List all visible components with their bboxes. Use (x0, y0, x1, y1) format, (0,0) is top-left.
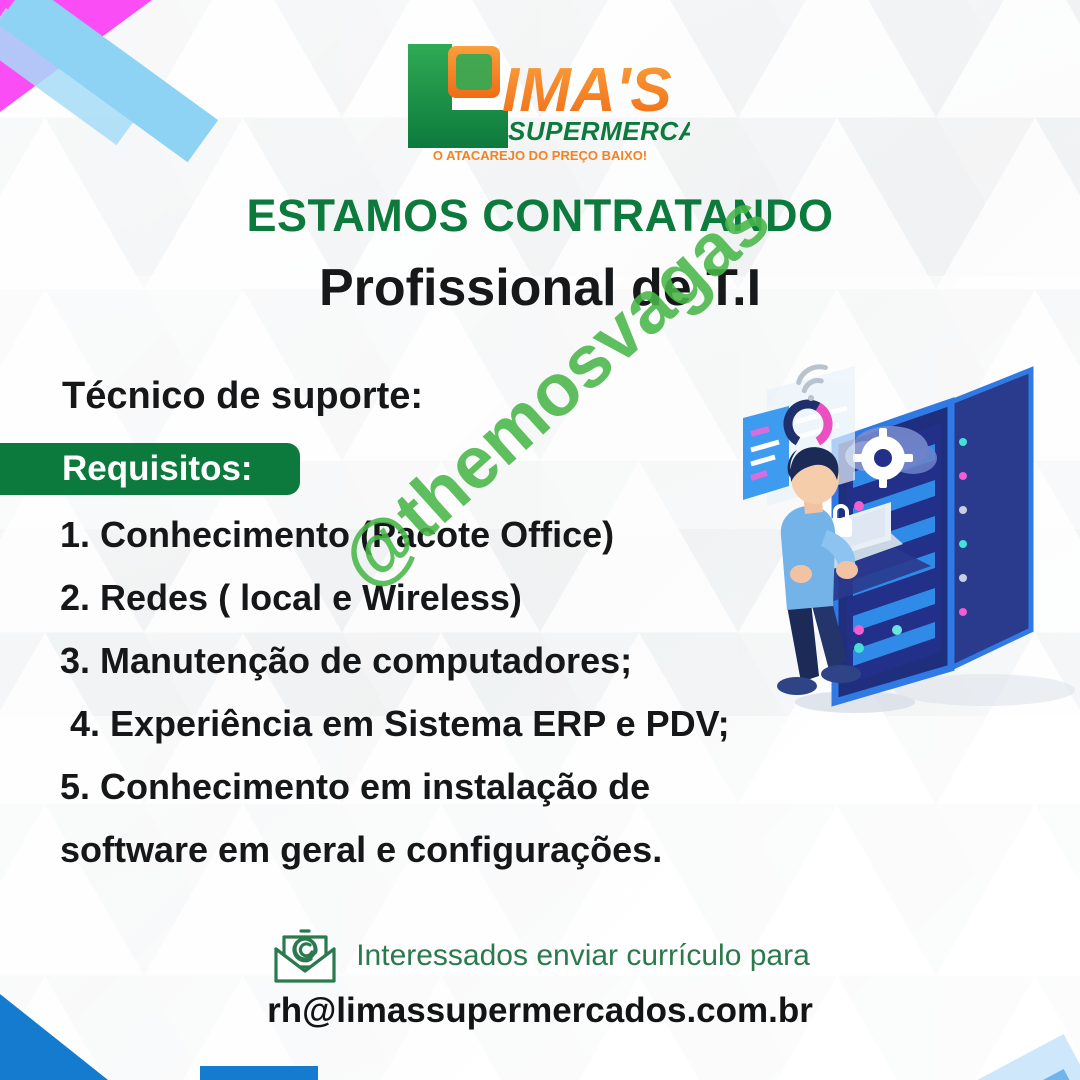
ui-list-card (743, 406, 789, 500)
list-item: 3. Manutenção de computadores; (60, 629, 800, 692)
bottom-blue-bar (200, 1066, 318, 1080)
requirements-banner: Requisitos: (0, 443, 300, 495)
contact-call-to-action: Interessados enviar currículo para (356, 939, 810, 973)
envelope-at-icon (270, 925, 340, 987)
server-rack-side (951, 370, 1031, 668)
requirements-list: 1. Conhecimento (Pacote Office) 2. Redes… (60, 503, 800, 881)
technician-server-rack-illustration (735, 330, 1080, 730)
logo-tagline: O ATACAREJO DO PREÇO BAIXO! (433, 148, 647, 163)
requirements-banner-label: Requisitos: (62, 449, 253, 489)
position-subtitle: Técnico de suporte: (62, 375, 423, 418)
company-logo: IMA'S SUPERMERCADOS O ATACAREJO DO PREÇO… (0, 36, 1080, 171)
list-item: 1. Conhecimento (Pacote Office) (60, 503, 800, 566)
list-item: 4. Experiência em Sistema ERP e PDV; (60, 692, 800, 755)
logo-wordmark: IMA'S (502, 56, 672, 125)
contact-footer: Interessados enviar currículo para rh@li… (0, 925, 1080, 1031)
logo-subtitle: SUPERMERCADOS (508, 116, 690, 146)
hiring-headline: ESTAMOS CONTRATANDO (0, 190, 1080, 242)
contact-email[interactable]: rh@limassupermercados.com.br (267, 991, 813, 1031)
list-item: software em geral e configurações. (60, 818, 800, 881)
job-posting-poster: IMA'S SUPERMERCADOS O ATACAREJO DO PREÇO… (0, 0, 1080, 1080)
logo-graphic: IMA'S SUPERMERCADOS O ATACAREJO DO PREÇO… (390, 36, 690, 171)
role-title: Profissional de T.I (0, 258, 1080, 318)
list-item: 2. Redes ( local e Wireless) (60, 566, 800, 629)
list-item: 5. Conhecimento em instalação de (60, 755, 800, 818)
